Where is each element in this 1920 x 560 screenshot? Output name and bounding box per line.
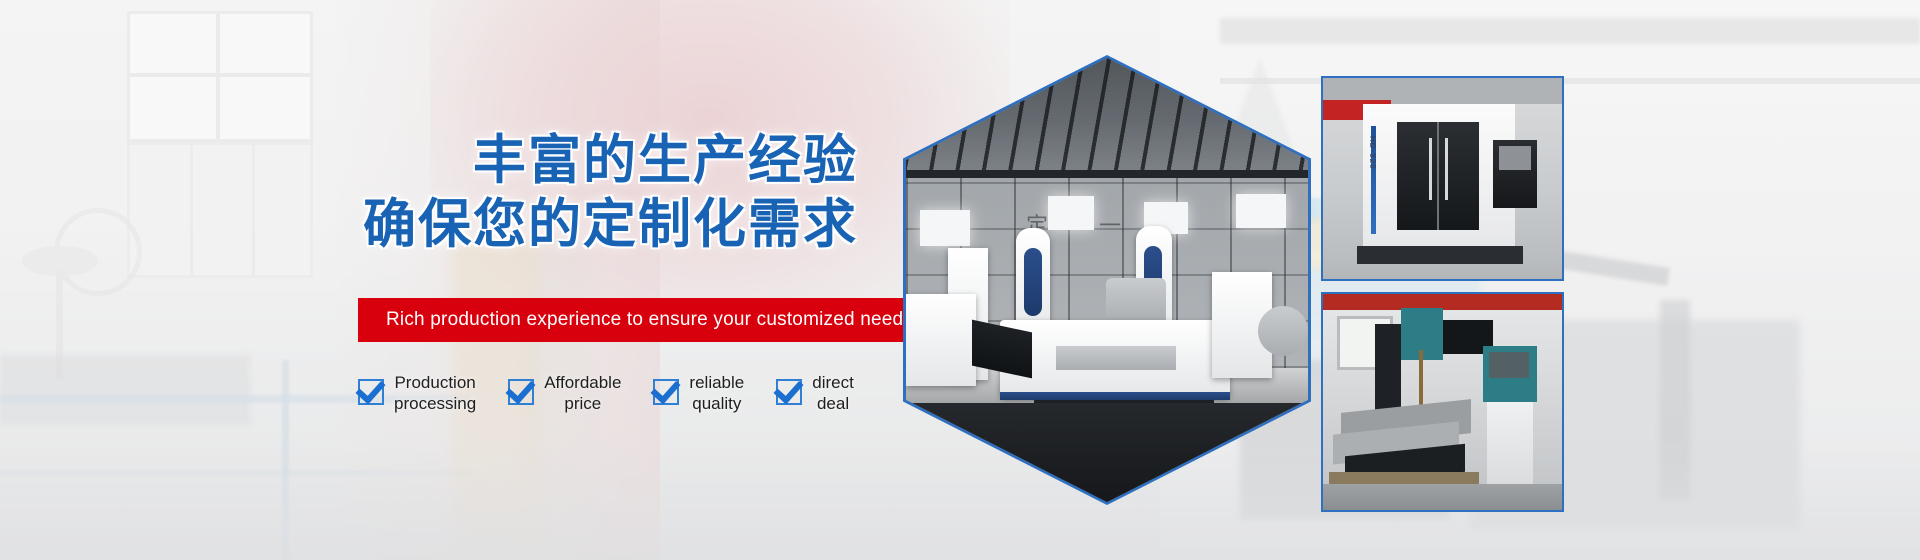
photo-floor bbox=[1323, 264, 1562, 281]
feature-item-production-processing[interactable]: Production processing bbox=[358, 372, 476, 414]
control-cabinet bbox=[1487, 390, 1533, 488]
feature-label-line-2: quality bbox=[689, 393, 744, 414]
machine-panel-1 bbox=[1024, 248, 1042, 316]
feature-label: Affordable price bbox=[544, 372, 621, 414]
photo-gantry-edm-machine[interactable] bbox=[1321, 292, 1564, 512]
hexagon-photo[interactable]: 定 一 切 bbox=[903, 55, 1311, 505]
factory-window bbox=[920, 210, 970, 246]
feature-label-line-2: deal bbox=[812, 393, 854, 414]
checkbox-checked-icon bbox=[653, 379, 679, 405]
feature-label-line-1: Affordable bbox=[544, 372, 621, 393]
machine-control-screen bbox=[1499, 146, 1531, 170]
machine-bed-window bbox=[1056, 346, 1176, 370]
headline-line-1: 丰富的生产经验 bbox=[0, 128, 858, 192]
control-display bbox=[1489, 352, 1529, 378]
photo-hd320-machining-center[interactable]: HD-320 bbox=[1321, 76, 1564, 281]
factory-window bbox=[1236, 194, 1286, 228]
machine-door-handle-left bbox=[1429, 138, 1432, 200]
factory-roof bbox=[906, 58, 1308, 178]
feature-item-affordable-price[interactable]: Affordable price bbox=[508, 372, 621, 414]
feature-label: reliable quality bbox=[689, 372, 744, 414]
machine-wrapped-stock bbox=[1106, 278, 1166, 324]
feature-label: Production processing bbox=[394, 372, 476, 414]
feature-label-line-2: price bbox=[544, 393, 621, 414]
banner-copy: 丰富的生产经验 确保您的定制化需求 Rich production experi… bbox=[0, 0, 910, 560]
feature-item-direct-deal[interactable]: direct deal bbox=[776, 372, 854, 414]
photo-floor bbox=[1323, 484, 1562, 510]
gantry-column-left bbox=[1375, 324, 1401, 410]
promo-banner: 丰富的生产经验 确保您的定制化需求 Rich production experi… bbox=[0, 0, 1920, 560]
machine-bed-trim bbox=[1000, 392, 1230, 400]
headline-line-2: 确保您的定制化需求 bbox=[0, 192, 858, 256]
subtitle-bar: Rich production experience to ensure you… bbox=[358, 298, 904, 342]
machine-reel bbox=[1258, 306, 1308, 356]
factory-floor bbox=[906, 403, 1308, 502]
checkbox-checked-icon bbox=[508, 379, 534, 405]
feature-item-reliable-quality[interactable]: reliable quality bbox=[653, 372, 744, 414]
checkbox-checked-icon bbox=[358, 379, 384, 405]
machine-door-handle-right bbox=[1445, 138, 1448, 200]
feature-list: Production processing Affordable price r… bbox=[358, 372, 904, 432]
feature-label-line-2: processing bbox=[394, 393, 476, 414]
machine-left-unit bbox=[906, 294, 976, 386]
feature-label-line-1: Production bbox=[394, 372, 476, 393]
checkbox-checked-icon bbox=[776, 379, 802, 405]
feature-label: direct deal bbox=[812, 372, 854, 414]
machine-model-label: HD-320 bbox=[1368, 136, 1377, 170]
hexagon-photo-image: 定 一 切 bbox=[906, 58, 1308, 502]
feature-label-line-1: reliable bbox=[689, 372, 744, 393]
page-title: 丰富的生产经验 确保您的定制化需求 bbox=[0, 128, 858, 256]
feature-label-line-1: direct bbox=[812, 372, 854, 393]
machine-door-seam bbox=[1437, 122, 1439, 230]
hexagon-border: 定 一 切 bbox=[903, 55, 1311, 505]
subtitle-text: Rich production experience to ensure you… bbox=[358, 298, 904, 342]
